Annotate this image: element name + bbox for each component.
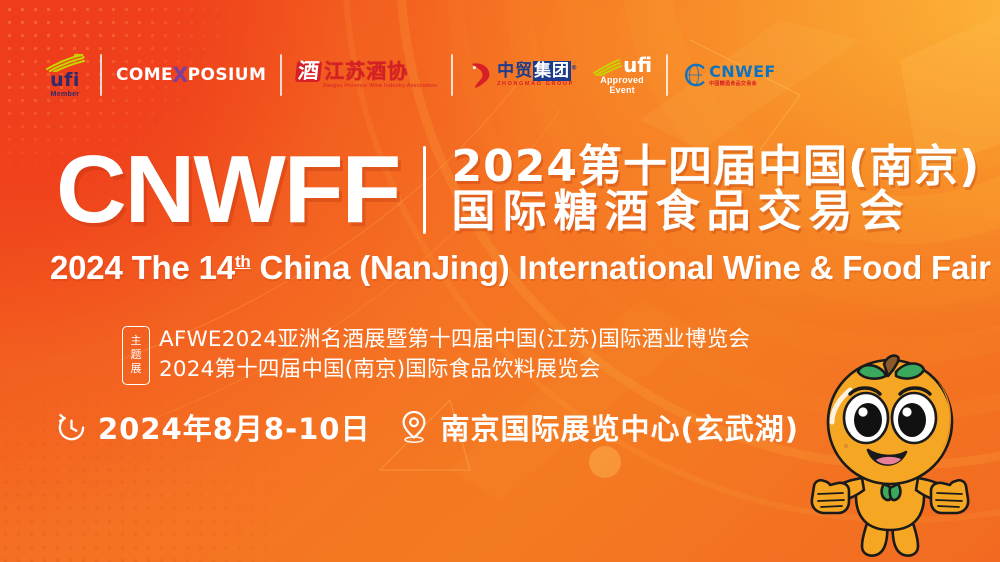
- jsw-en-name: Jiangsu Province Wine Industry Associati…: [322, 84, 437, 90]
- theme-badge: 主 题 展: [122, 326, 150, 385]
- zhongmao-cn-box: 集团: [533, 61, 571, 81]
- jiangsu-wine-association-logo: 酒 江苏酒协 Jiangsu Province Wine Industry As…: [296, 46, 437, 104]
- event-venue-item: 南京国际展览中心(玄武湖): [399, 406, 799, 448]
- comexposium-logo: COME X POSIUM: [116, 46, 266, 104]
- cnwef-logo: CNWEF 中国糖酒食品交易会: [682, 46, 776, 104]
- zhongmao-registered: ®: [571, 64, 578, 71]
- event-date-text: 2024年8月8-10日: [98, 406, 370, 448]
- comexposium-part1: COME: [116, 65, 173, 85]
- acronym-title: CNWFF: [56, 142, 399, 238]
- theme-exhibition-lines: AFWE2024亚洲名酒展暨第十四届中国(江苏)国际酒业博览会 2024第十四届…: [159, 326, 750, 385]
- location-pin-icon: [399, 410, 429, 444]
- cnwef-sub: 中国糖酒食品交易会: [709, 82, 776, 87]
- main-title-row: CNWFF 2024第十四届中国(南京) 国际糖酒食品交易会: [56, 142, 980, 238]
- theme-badge-char-2: 题: [131, 349, 142, 362]
- logo-divider-4: [666, 54, 668, 96]
- comexposium-x: X: [172, 63, 189, 87]
- theme-line-2: 2024第十四届中国(南京)国际食品饮料展览会: [159, 356, 750, 384]
- logo-bar: ufi Member COME X POSIUM 酒 江苏酒协 Jiangsu …: [44, 46, 776, 104]
- english-subtitle-suffix: China (NanJing) International Wine & Foo…: [251, 249, 991, 286]
- ufi-member-logo: ufi Member: [44, 46, 86, 104]
- mascot-svg: [788, 354, 998, 562]
- theme-badge-char-3: 展: [131, 363, 142, 376]
- jsw-cn-name: 江苏酒协: [324, 61, 408, 81]
- zhongmao-mark-icon: [467, 61, 493, 89]
- cnwef-globe-icon: [682, 63, 706, 87]
- ufi-word: ufi: [50, 71, 80, 90]
- logo-divider-3: [451, 54, 453, 96]
- ufi-approved-line2: Event: [609, 86, 635, 95]
- chinese-title: 2024第十四届中国(南京) 国际糖酒食品交易会: [452, 145, 981, 235]
- ufi-approved-word: ufi: [623, 55, 652, 76]
- orange-mascot-character: [788, 354, 998, 562]
- event-date-item: 2024年8月8-10日: [56, 406, 370, 448]
- theme-line-1: AFWE2024亚洲名酒展暨第十四届中国(江苏)国际酒业博览会: [159, 326, 750, 354]
- english-subtitle-prefix: 2024 The 14: [50, 249, 235, 286]
- ufi-approved-event-logo: ufi Approved Event: [592, 46, 652, 104]
- chinese-title-line2: 国际糖酒食品交易会: [452, 190, 981, 235]
- english-subtitle: 2024 The 14th China (NanJing) Internatio…: [50, 249, 991, 287]
- chinese-title-line1: 2024第十四届中国(南京): [452, 145, 981, 190]
- ufi-approved-wing-icon: [592, 58, 622, 76]
- theme-badge-char-1: 主: [131, 335, 142, 348]
- clock-icon: [56, 412, 87, 443]
- english-subtitle-ordinal: th: [235, 252, 251, 271]
- logo-divider-2: [280, 54, 282, 96]
- comexposium-part2: POSIUM: [188, 65, 267, 85]
- cnwef-word: CNWEF: [709, 64, 776, 80]
- theme-exhibitions-block: 主 题 展 AFWE2024亚洲名酒展暨第十四届中国(江苏)国际酒业博览会 20…: [122, 326, 750, 385]
- event-venue-text: 南京国际展览中心(玄武湖): [440, 406, 799, 448]
- zhongmao-group-logo: 中贸集团® ZHONGMAO GROUP: [467, 46, 578, 104]
- ufi-member-sub: Member: [51, 91, 80, 98]
- zhongmao-cn: 中贸: [497, 61, 533, 81]
- jsw-seal-char: 酒: [295, 61, 322, 82]
- poster-canvas: ufi Member COME X POSIUM 酒 江苏酒协 Jiangsu …: [0, 0, 1000, 562]
- logo-divider-1: [100, 54, 102, 96]
- event-meta-row: 2024年8月8-10日 南京国际展览中心(玄武湖): [56, 406, 799, 448]
- title-divider: [423, 146, 426, 234]
- zhongmao-en: ZHONGMAO GROUP: [497, 82, 578, 88]
